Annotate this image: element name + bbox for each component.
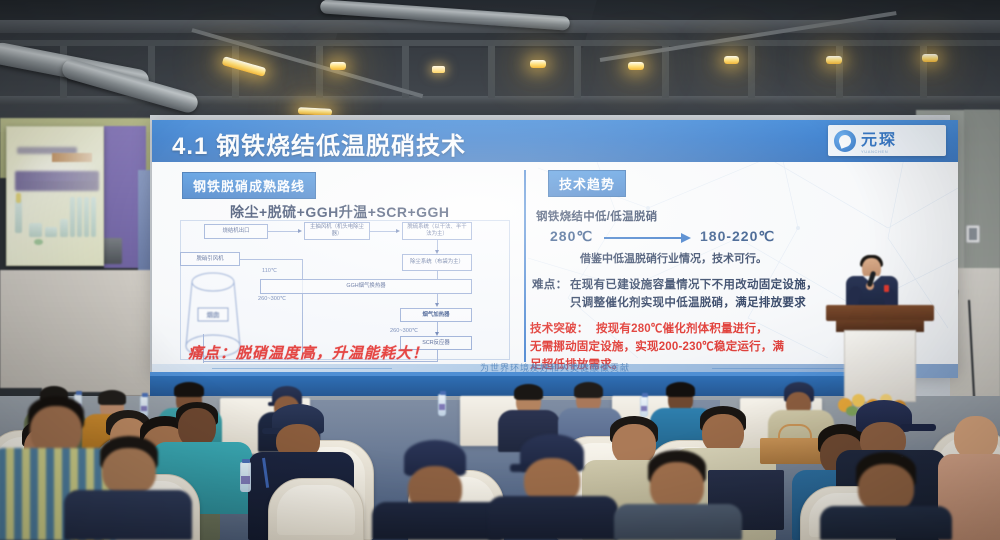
ceiling: [0, 0, 1000, 132]
poster-product-tube: [91, 197, 96, 237]
flow-arrow-icon: [396, 229, 400, 233]
audience-hair: [514, 384, 543, 400]
water-bottle: [438, 394, 446, 416]
partition-panel: [0, 270, 44, 388]
pain-point-text: 痛点：脱硝温度高，升温能耗大！: [188, 342, 428, 363]
logo-text: 元琛: [861, 133, 897, 149]
flow-box: 脱硫系统（以干法、半干法为主）: [402, 222, 472, 240]
ceiling-rib: [488, 46, 495, 98]
flow-box-ggh: GGH烟气换热器: [260, 279, 472, 294]
svg-text:烟囱: 烟囱: [207, 310, 220, 319]
flow-connector: [370, 231, 396, 232]
flow-box: 烧结机出口: [204, 224, 268, 239]
ceiling-rib: [232, 46, 239, 98]
temperature-label: 110℃: [262, 268, 277, 274]
breakthrough-line-1: 按现有280℃催化剂体积量进行，: [596, 320, 768, 336]
poster-product-block: [60, 219, 68, 237]
partition-panel: [42, 270, 118, 392]
poster-product-block: [45, 227, 57, 237]
ceiling-rib: [662, 46, 669, 98]
ceiling-light: [922, 54, 938, 62]
logo-subtext: YUANCHEN: [861, 149, 888, 154]
poster-decor: [34, 239, 43, 245]
audience-torso: [614, 504, 742, 540]
audience-torso: [488, 496, 618, 540]
panel-divider: [524, 170, 526, 362]
ceiling-light: [826, 56, 842, 64]
company-logo: 元琛 YUANCHEN: [828, 125, 946, 156]
ceiling-light: [432, 66, 445, 73]
water-bottle: [640, 396, 648, 417]
flow-connector: [302, 259, 303, 355]
podium-top: [826, 305, 934, 321]
projection-screen: 4.1 钢铁烧结低温脱硝技术 元琛 YUANCHEN 钢铁脱硝成熟路线 除尘+脱…: [152, 120, 958, 378]
presentation-slide: 4.1 钢铁烧结低温脱硝技术 元琛 YUANCHEN 钢铁脱硝成熟路线 除尘+脱…: [152, 120, 958, 378]
wall-switch-panel: [966, 225, 980, 243]
left-panel-header: 钢铁脱硝成熟路线: [182, 172, 316, 199]
flow-arrow-icon: [298, 229, 302, 233]
poster-product-tube: [70, 197, 75, 237]
ceiling-light: [222, 56, 267, 77]
exhibition-poster: [6, 126, 104, 266]
ceiling-light: [530, 60, 546, 68]
breakthrough-line-2: 无需挪动固定设施，实现200-230℃稳定运行，满: [530, 338, 784, 354]
poster-product-vial: [16, 193, 21, 203]
poster-product-block: [29, 223, 42, 237]
temp-to: 180-220℃: [700, 228, 775, 245]
poster-product-tube: [77, 197, 82, 237]
audience-hair: [98, 390, 126, 405]
process-equation: 除尘+脱硫+GGH升温+SCR+GGH: [230, 202, 450, 222]
poster-title-blur: [15, 171, 99, 191]
audience-hair: [666, 382, 695, 397]
trend-arrow-icon: [604, 237, 682, 239]
audience-head: [102, 448, 156, 496]
ceiling-rib: [748, 46, 755, 98]
temp-from: 280℃: [550, 228, 593, 245]
eye-logo-icon: [834, 130, 856, 152]
trend-line-2: 借鉴中低温脱硝行业情况，技术可行。: [580, 250, 767, 266]
ceiling-rib: [574, 46, 581, 98]
breakthrough-label: 技术突破：: [530, 320, 589, 336]
audience-torso: [372, 502, 502, 540]
difficulty-line-1: 在现有已建设施容量情况下不用改动固定设施，: [570, 276, 818, 292]
trend-line-1: 钢铁烧结中低/低温脱硝: [536, 208, 658, 224]
poster-product-tube: [84, 197, 89, 237]
water-bottle: [240, 462, 251, 492]
speaker-badge: [884, 285, 889, 292]
poster-product-vial: [15, 199, 22, 233]
audience-torso: [820, 506, 952, 540]
flow-connector: [268, 231, 298, 232]
flow-box: 烟气加热器: [400, 308, 472, 322]
ceiling-light: [330, 62, 346, 70]
slide-title-bar: 4.1 钢铁烧结低温脱硝技术 元琛 YUANCHEN: [152, 120, 958, 162]
ceiling-light: [724, 56, 739, 64]
difficulty-label: 难点：: [532, 276, 567, 292]
ceiling-duct: [60, 57, 200, 115]
temperature-label: 260~300℃: [390, 328, 418, 334]
left-exhibition-wall: [0, 118, 172, 418]
handbag-handle: [778, 424, 812, 440]
difficulty-line-2: 只调整催化剂实现中低温脱硝，满足排放要求: [570, 294, 806, 310]
flow-box: 主抽风机（机头电除尘器）: [304, 222, 370, 240]
flow-box: 除尘系统（布袋为主）: [402, 254, 472, 271]
flow-box: 脱硝引风机: [180, 252, 240, 266]
flow-connector: [240, 259, 302, 260]
ceiling-rib: [836, 46, 843, 98]
conference-photo-scene: 4.1 钢铁烧结低温脱硝技术 元琛 YUANCHEN 钢铁脱硝成熟路线 除尘+脱…: [0, 0, 1000, 540]
slide-title: 4.1 钢铁烧结低温脱硝技术: [172, 126, 466, 161]
audience-hair: [574, 382, 603, 398]
right-panel-header: 技术趋势: [548, 170, 626, 197]
audience-hair: [174, 382, 204, 397]
ceiling-rib: [316, 46, 323, 98]
chair: [268, 478, 364, 540]
poster-strip-graphic: [52, 153, 92, 162]
flow-arrow-icon: [435, 303, 439, 307]
audience-cap-brim: [900, 424, 936, 431]
temperature-label: 260~300℃: [258, 296, 286, 302]
ceiling-light: [628, 62, 644, 70]
audience-torso: [64, 490, 192, 540]
